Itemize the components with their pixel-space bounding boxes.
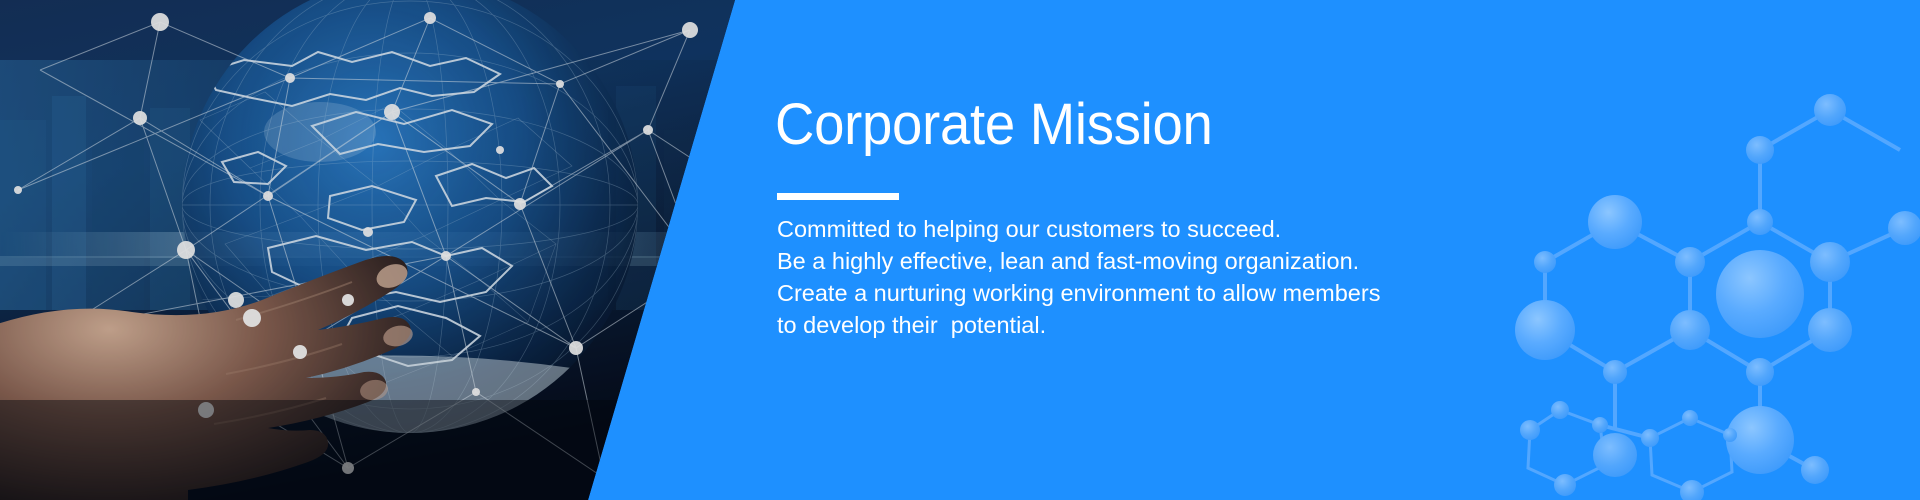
title-divider [777,193,899,200]
banner-content: Corporate Mission Committed to helping o… [775,0,1775,500]
mission-line: Be a highly effective, lean and fast-mov… [777,245,1380,277]
mission-line: Create a nurturing working environment t… [777,277,1380,309]
page-title: Corporate Mission [775,96,1213,154]
corporate-mission-banner: Corporate Mission Committed to helping o… [0,0,1920,500]
mission-line: Committed to helping our customers to su… [777,213,1380,245]
mission-statement: Committed to helping our customers to su… [777,213,1380,341]
mission-line: to develop their potential. [777,309,1380,341]
